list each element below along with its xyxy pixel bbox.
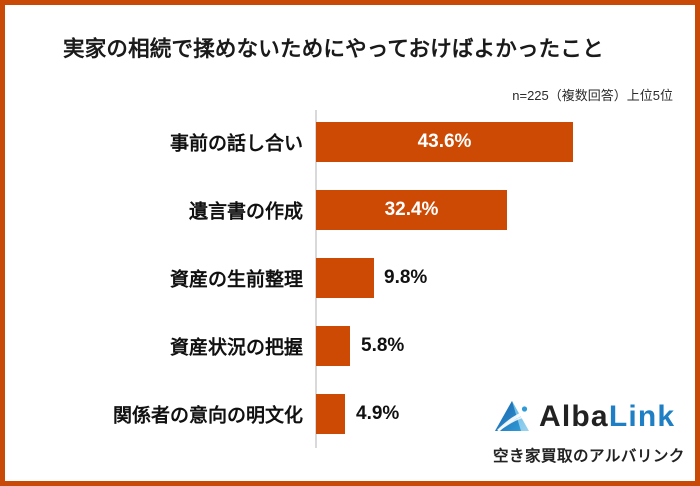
bar-row: 資産状況の把握 5.8% <box>5 312 695 380</box>
logo-wordmark: AlbaLink <box>539 402 675 432</box>
brand-logo: AlbaLink 空き家買取のアルバリンク <box>491 398 681 468</box>
chart-subtitle-note: n=225（複数回答）上位5位 <box>512 85 673 104</box>
chart-card: 実家の相続で揉めないためにやっておけばよかったこと n=225（複数回答）上位5… <box>0 0 700 486</box>
logo-tagline: 空き家買取のアルバリンク <box>493 444 685 466</box>
bar <box>316 326 350 366</box>
bar-row: 遺言書の作成 32.4% <box>5 176 695 244</box>
category-label: 関係者の意向の明文化 <box>113 401 303 428</box>
chart-canvas: 実家の相続で揉めないためにやっておけばよかったこと n=225（複数回答）上位5… <box>5 5 695 481</box>
category-label: 資産の生前整理 <box>170 265 303 292</box>
bar-value-label: 5.8% <box>361 335 404 357</box>
logo-word-link: Link <box>609 400 675 433</box>
bar <box>316 258 374 298</box>
bar-value-label: 32.4% <box>385 199 439 221</box>
mountain-logo-icon <box>491 398 531 436</box>
page-title: 実家の相続で揉めないためにやっておけばよかったこと <box>63 32 663 63</box>
category-label: 遺言書の作成 <box>189 197 303 224</box>
logo-word-alba: Alba <box>539 400 609 433</box>
bar-value-label: 43.6% <box>418 131 472 153</box>
bar-row: 事前の話し合い 43.6% <box>5 108 695 176</box>
category-label: 事前の話し合い <box>170 129 303 156</box>
bar-row: 資産の生前整理 9.8% <box>5 244 695 312</box>
bar <box>316 394 345 434</box>
bar: 32.4% <box>316 190 507 230</box>
bar: 43.6% <box>316 122 573 162</box>
bar-value-label: 9.8% <box>384 267 427 289</box>
bar-value-label: 4.9% <box>356 403 399 425</box>
logo-lockup: AlbaLink <box>491 398 675 436</box>
category-label: 資産状況の把握 <box>170 333 303 360</box>
